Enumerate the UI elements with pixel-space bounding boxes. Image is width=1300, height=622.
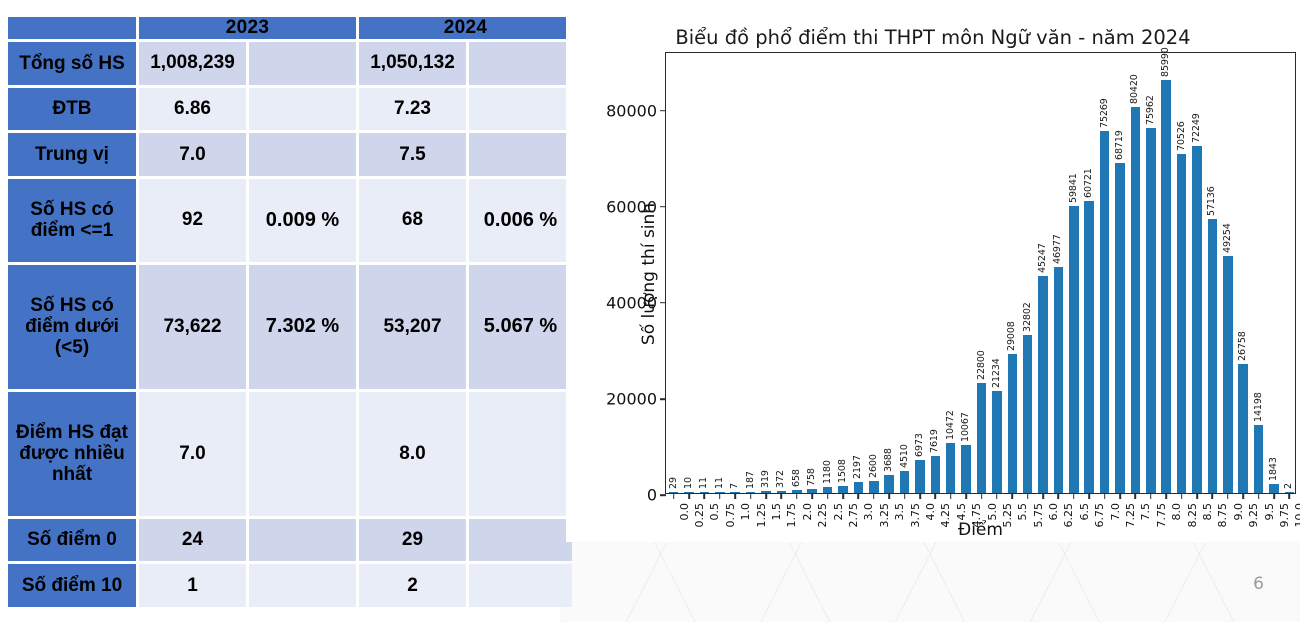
x-axis-tick-label: 9.5 xyxy=(1263,503,1276,521)
chart-bar-value-label: 187 xyxy=(745,471,756,489)
x-axis-tick-mark xyxy=(965,493,967,499)
table-cell-v3: 7.5 xyxy=(359,133,466,176)
x-axis-tick-mark xyxy=(1227,493,1229,499)
chart-bar-value-label: 2600 xyxy=(868,454,879,478)
chart-bar-value-label: 11 xyxy=(714,478,725,490)
table-cell-v4 xyxy=(469,42,572,85)
chart-bar-value-label: 68719 xyxy=(1114,130,1125,160)
chart-bar xyxy=(1177,154,1187,493)
chart-bar xyxy=(1069,206,1079,493)
chart-bar-value-label: 32802 xyxy=(1022,303,1033,333)
chart-bar-value-label: 758 xyxy=(806,469,817,487)
chart-bar xyxy=(1131,107,1141,493)
chart-bar-value-label: 3688 xyxy=(883,449,894,473)
table-row: Số điểm 1012 xyxy=(8,564,572,607)
chart-bar xyxy=(1023,335,1033,493)
chart-bar-value-label: 72249 xyxy=(1191,113,1202,143)
table-row: Tổng số HS1,008,2391,050,132 xyxy=(8,42,572,85)
x-axis-tick-label: 9.0 xyxy=(1232,503,1245,521)
chart-bar xyxy=(992,391,1002,493)
table-cell-v2 xyxy=(249,564,356,607)
x-axis-tick-label: 0.0 xyxy=(678,503,691,521)
slide-canvas: 2023 2024 Tổng số HS1,008,2391,050,132ĐT… xyxy=(0,0,1300,622)
x-axis-tick-label: 1.5 xyxy=(770,503,783,521)
x-axis-tick-label: 2.5 xyxy=(832,503,845,521)
x-axis-tick-mark xyxy=(919,493,921,499)
table-cell-v3: 8.0 xyxy=(359,392,466,516)
x-axis-tick-mark xyxy=(935,493,937,499)
chart-bar-value-label: 4510 xyxy=(899,445,910,469)
chart-bar-value-label: 75962 xyxy=(1145,95,1156,125)
x-axis-tick-mark xyxy=(688,493,690,499)
y-axis-tick-mark xyxy=(660,398,666,400)
table-cell-v3: 7.23 xyxy=(359,88,466,131)
chart-x-axis-label: Điểm xyxy=(665,520,1296,540)
chart-bar xyxy=(854,482,864,493)
chart-bar-value-label: 46977 xyxy=(1052,235,1063,265)
table-cell-v3: 2 xyxy=(359,564,466,607)
x-axis-tick-mark xyxy=(1088,493,1090,499)
header-cell-blank xyxy=(8,17,136,39)
chart-bar xyxy=(1146,128,1156,493)
chart-bar-value-label: 10472 xyxy=(945,410,956,440)
table-row-label: Số điểm 0 xyxy=(8,519,136,562)
chart-bar xyxy=(900,471,910,493)
x-axis-tick-mark xyxy=(1289,493,1291,499)
x-axis-tick-mark xyxy=(1104,493,1106,499)
table-row-label: Tổng số HS xyxy=(8,42,136,85)
chart-bars-container: 2910111171873193726587581180150821972600… xyxy=(666,53,1295,493)
table-row-label: Điểm HS đạt được nhiều nhất xyxy=(8,392,136,516)
x-axis-tick-mark xyxy=(1212,493,1214,499)
table-cell-v2 xyxy=(249,133,356,176)
x-axis-tick-mark xyxy=(827,493,829,499)
x-axis-tick-label: 7.5 xyxy=(1139,503,1152,521)
y-axis-tick-label: 60000 xyxy=(606,197,657,216)
x-axis-tick-mark xyxy=(1258,493,1260,499)
chart-bar-value-label: 21234 xyxy=(991,358,1002,388)
x-axis-tick-mark xyxy=(811,493,813,499)
x-axis-tick-mark xyxy=(950,493,952,499)
table-row: Số HS có điểm <=1920.009 %680.006 % xyxy=(8,179,572,262)
x-axis-tick-mark xyxy=(1135,493,1137,499)
statistics-table: 2023 2024 Tổng số HS1,008,2391,050,132ĐT… xyxy=(5,14,575,610)
chart-bar xyxy=(961,445,971,493)
chart-bar xyxy=(838,486,848,493)
chart-bar xyxy=(1054,267,1064,493)
chart-bar-value-label: 60721 xyxy=(1083,169,1094,199)
chart-bar xyxy=(915,460,925,494)
table-cell-v1: 7.0 xyxy=(139,392,246,516)
table-row-label: Số HS có điểm dưới (<5) xyxy=(8,265,136,389)
table-cell-v4: 5.067 % xyxy=(469,265,572,389)
chart-bar-value-label: 658 xyxy=(791,469,802,487)
chart-title: Biểu đồ phổ điểm thi THPT môn Ngữ văn - … xyxy=(566,26,1300,49)
table-cell-v3: 53,207 xyxy=(359,265,466,389)
x-axis-tick-mark xyxy=(1058,493,1060,499)
page-number: 6 xyxy=(1253,574,1264,594)
chart-bar xyxy=(1038,276,1048,493)
x-axis-tick-mark xyxy=(765,493,767,499)
chart-bar-value-label: 29008 xyxy=(1006,321,1017,351)
table-row-label: Số HS có điểm <=1 xyxy=(8,179,136,262)
chart-bar-value-label: 10067 xyxy=(960,412,971,442)
x-axis-tick-mark xyxy=(1011,493,1013,499)
chart-bar-value-label: 1180 xyxy=(822,461,833,485)
chart-bar xyxy=(931,456,941,493)
chart-bar xyxy=(946,443,956,493)
chart-bar xyxy=(977,383,987,493)
chart-bar xyxy=(1084,201,1094,493)
y-axis-tick-mark xyxy=(660,206,666,208)
chart-bar-value-label: 10 xyxy=(683,478,694,490)
chart-bar xyxy=(1008,354,1018,493)
table-cell-v1: 1 xyxy=(139,564,246,607)
x-axis-tick-label: 3.0 xyxy=(862,503,875,521)
chart-bar-value-label: 6973 xyxy=(914,433,925,457)
chart-bar-value-label: 57136 xyxy=(1206,186,1217,216)
header-cell-2024: 2024 xyxy=(359,17,572,39)
chart-bar-value-label: 80420 xyxy=(1129,74,1140,104)
table-cell-v2: 7.302 % xyxy=(249,265,356,389)
x-axis-tick-mark xyxy=(781,493,783,499)
x-axis-tick-label: 5.0 xyxy=(986,503,999,521)
table-cell-v3: 68 xyxy=(359,179,466,262)
x-axis-tick-label: 2.0 xyxy=(801,503,814,521)
table-cell-v1: 1,008,239 xyxy=(139,42,246,85)
chart-bar xyxy=(1238,364,1248,493)
chart-bar-value-label: 75269 xyxy=(1099,99,1110,129)
table-cell-v2 xyxy=(249,392,356,516)
table-cell-v4: 0.006 % xyxy=(469,179,572,262)
chart-bar xyxy=(1115,163,1125,493)
x-axis-tick-mark xyxy=(873,493,875,499)
chart-bar xyxy=(1208,219,1218,494)
x-axis-tick-mark xyxy=(1119,493,1121,499)
table-row-label: Số điểm 10 xyxy=(8,564,136,607)
table-cell-v1: 6.86 xyxy=(139,88,246,131)
x-axis-tick-mark xyxy=(904,493,906,499)
x-axis-tick-label: 3.5 xyxy=(893,503,906,521)
x-axis-tick-mark xyxy=(1165,493,1167,499)
x-axis-tick-mark xyxy=(1273,493,1275,499)
x-axis-tick-label: 8.5 xyxy=(1201,503,1214,521)
chart-bar xyxy=(1269,484,1279,493)
chart-bar-value-label: 1508 xyxy=(837,459,848,483)
table-cell-v4 xyxy=(469,519,572,562)
y-axis-tick-label: 80000 xyxy=(606,101,657,120)
table-row-label: ĐTB xyxy=(8,88,136,131)
x-axis-tick-mark xyxy=(673,493,675,499)
chart-bar-value-label: 49254 xyxy=(1222,224,1233,254)
x-axis-tick-mark xyxy=(796,493,798,499)
x-axis-tick-mark xyxy=(1073,493,1075,499)
table-cell-v2 xyxy=(249,88,356,131)
chart-bar-value-label: 85990 xyxy=(1160,47,1171,77)
x-axis-tick-mark xyxy=(750,493,752,499)
y-axis-tick-label: 20000 xyxy=(606,389,657,408)
x-axis-tick-mark xyxy=(858,493,860,499)
chart-bar xyxy=(1254,425,1264,493)
table-cell-v2: 0.009 % xyxy=(249,179,356,262)
chart-bar xyxy=(1161,80,1171,493)
chart-bar xyxy=(884,475,894,493)
table-row: Trung vị7.07.5 xyxy=(8,133,572,176)
x-axis-tick-mark xyxy=(734,493,736,499)
chart-bar-value-label: 29 xyxy=(668,478,679,490)
x-axis-tick-label: 4.5 xyxy=(955,503,968,521)
table-body: Tổng số HS1,008,2391,050,132ĐTB6.867.23T… xyxy=(8,42,572,607)
table-row: Số HS có điểm dưới (<5)73,6227.302 %53,2… xyxy=(8,265,572,389)
table-cell-v4 xyxy=(469,564,572,607)
chart-y-axis-label: Số lượng thí sinh xyxy=(639,203,659,345)
chart-bar xyxy=(869,481,879,493)
x-axis-tick-mark xyxy=(996,493,998,499)
chart-bar-value-label: 2 xyxy=(1283,483,1294,489)
x-axis-tick-label: 8.0 xyxy=(1170,503,1183,521)
table-row: Điểm HS đạt được nhiều nhất7.08.0 xyxy=(8,392,572,516)
x-axis-tick-mark xyxy=(719,493,721,499)
y-axis-tick-label: 0 xyxy=(647,486,657,505)
x-axis-tick-mark xyxy=(1196,493,1198,499)
table-cell-v4 xyxy=(469,392,572,516)
x-axis-tick-mark xyxy=(704,493,706,499)
chart-panel: Biểu đồ phổ điểm thi THPT môn Ngữ văn - … xyxy=(566,6,1300,542)
table-cell-v4 xyxy=(469,88,572,131)
x-axis-tick-label: 0.5 xyxy=(708,503,721,521)
table-row: ĐTB6.867.23 xyxy=(8,88,572,131)
table-cell-v1: 73,622 xyxy=(139,265,246,389)
table-cell-v2 xyxy=(249,519,356,562)
y-axis-tick-label: 40000 xyxy=(606,293,657,312)
table-cell-v1: 24 xyxy=(139,519,246,562)
y-axis-tick-mark xyxy=(660,110,666,112)
table-cell-v3: 29 xyxy=(359,519,466,562)
chart-plot-area: 2910111171873193726587581180150821972600… xyxy=(665,52,1296,494)
chart-bar-value-label: 26758 xyxy=(1237,332,1248,362)
chart-bar xyxy=(1192,146,1202,493)
table-cell-v2 xyxy=(249,42,356,85)
chart-bar xyxy=(1223,256,1233,493)
x-axis-tick-label: 6.0 xyxy=(1047,503,1060,521)
chart-bar-value-label: 7619 xyxy=(929,430,940,454)
table-cell-v4 xyxy=(469,133,572,176)
x-axis-tick-mark xyxy=(1242,493,1244,499)
y-axis-tick-mark xyxy=(660,494,666,496)
x-axis-tick-label: 7.0 xyxy=(1109,503,1122,521)
x-axis-tick-mark xyxy=(888,493,890,499)
diamond-watermark xyxy=(560,540,1300,622)
chart-bar-value-label: 45247 xyxy=(1037,243,1048,273)
table-row: Số điểm 02429 xyxy=(8,519,572,562)
chart-bar-value-label: 22800 xyxy=(976,351,987,381)
x-axis-tick-mark xyxy=(1042,493,1044,499)
x-axis-tick-mark xyxy=(1150,493,1152,499)
y-axis-tick-mark xyxy=(660,302,666,304)
x-axis-tick-label: 5.5 xyxy=(1016,503,1029,521)
x-axis-tick-mark xyxy=(1181,493,1183,499)
statistics-table-wrapper: 2023 2024 Tổng số HS1,008,2391,050,132ĐT… xyxy=(5,14,557,610)
chart-bar-value-label: 7 xyxy=(729,483,740,489)
table-cell-v3: 1,050,132 xyxy=(359,42,466,85)
chart-bar-value-label: 2197 xyxy=(852,456,863,480)
x-axis-tick-mark xyxy=(842,493,844,499)
table-cell-v1: 7.0 xyxy=(139,133,246,176)
chart-bar-value-label: 14198 xyxy=(1253,392,1264,422)
chart-bar-value-label: 11 xyxy=(698,478,709,490)
chart-bar-value-label: 319 xyxy=(760,471,771,489)
x-axis-tick-label: 6.5 xyxy=(1078,503,1091,521)
table-header-row: 2023 2024 xyxy=(8,17,572,39)
table-row-label: Trung vị xyxy=(8,133,136,176)
table-header: 2023 2024 xyxy=(8,17,572,39)
x-axis-tick-mark xyxy=(1027,493,1029,499)
chart-bar-value-label: 372 xyxy=(775,470,786,488)
header-cell-2023: 2023 xyxy=(139,17,356,39)
table-cell-v1: 92 xyxy=(139,179,246,262)
chart-bar-value-label: 70526 xyxy=(1176,121,1187,151)
chart-bar-value-label: 1843 xyxy=(1268,457,1279,481)
x-axis-tick-mark xyxy=(981,493,983,499)
x-axis-tick-label: 1.0 xyxy=(739,503,752,521)
chart-bar xyxy=(1100,131,1110,493)
chart-bar-value-label: 59841 xyxy=(1068,173,1079,203)
x-axis-tick-label: 4.0 xyxy=(924,503,937,521)
